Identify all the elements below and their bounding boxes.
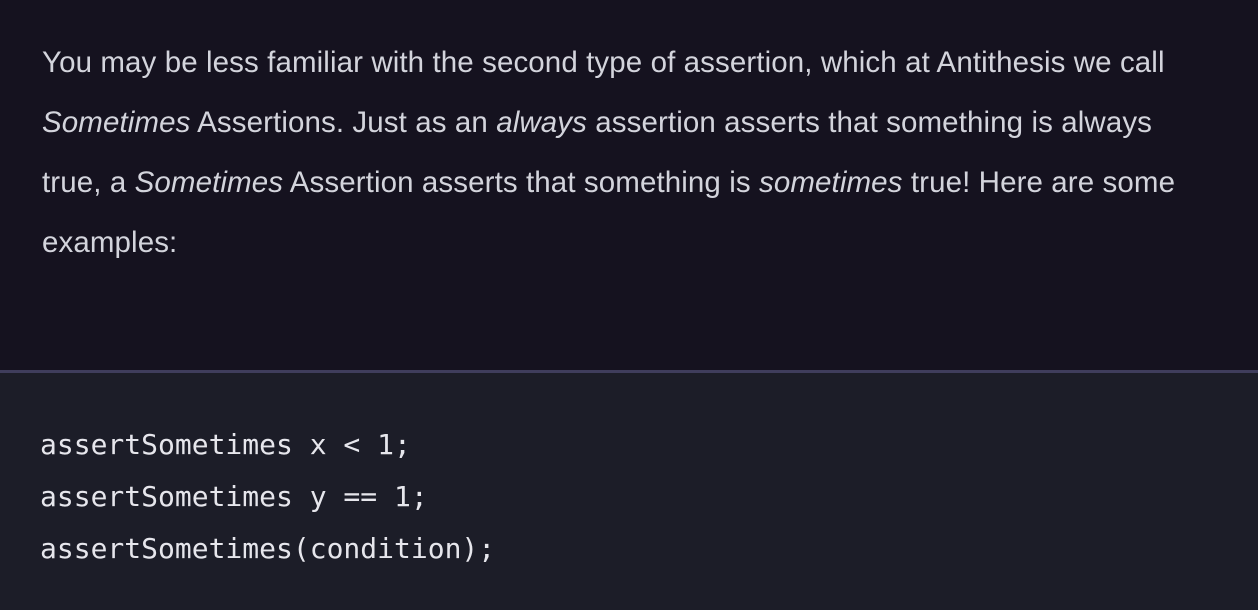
code-section: assertSometimes x < 1;assertSometimes y …: [0, 373, 1258, 610]
prose-text-run: You may be less familiar with the second…: [42, 46, 1165, 79]
prose-text-run: Assertion asserts that something is: [283, 166, 759, 199]
prose-paragraph: You may be less familiar with the second…: [0, 0, 1216, 273]
prose-emphasis: always: [496, 106, 587, 139]
code-line: assertSometimes x < 1;: [40, 419, 1258, 471]
code-line: assertSometimes(condition);: [40, 523, 1258, 575]
prose-text-run: Assertions. Just as an: [190, 106, 496, 139]
prose-emphasis: Sometimes: [42, 106, 190, 139]
code-block[interactable]: assertSometimes x < 1;assertSometimes y …: [0, 373, 1258, 575]
article-content: You may be less familiar with the second…: [0, 0, 1258, 610]
code-line: assertSometimes y == 1;: [40, 471, 1258, 523]
prose-emphasis: Sometimes: [135, 166, 283, 199]
prose-emphasis: sometimes: [759, 166, 903, 199]
prose-section: You may be less familiar with the second…: [0, 0, 1258, 370]
